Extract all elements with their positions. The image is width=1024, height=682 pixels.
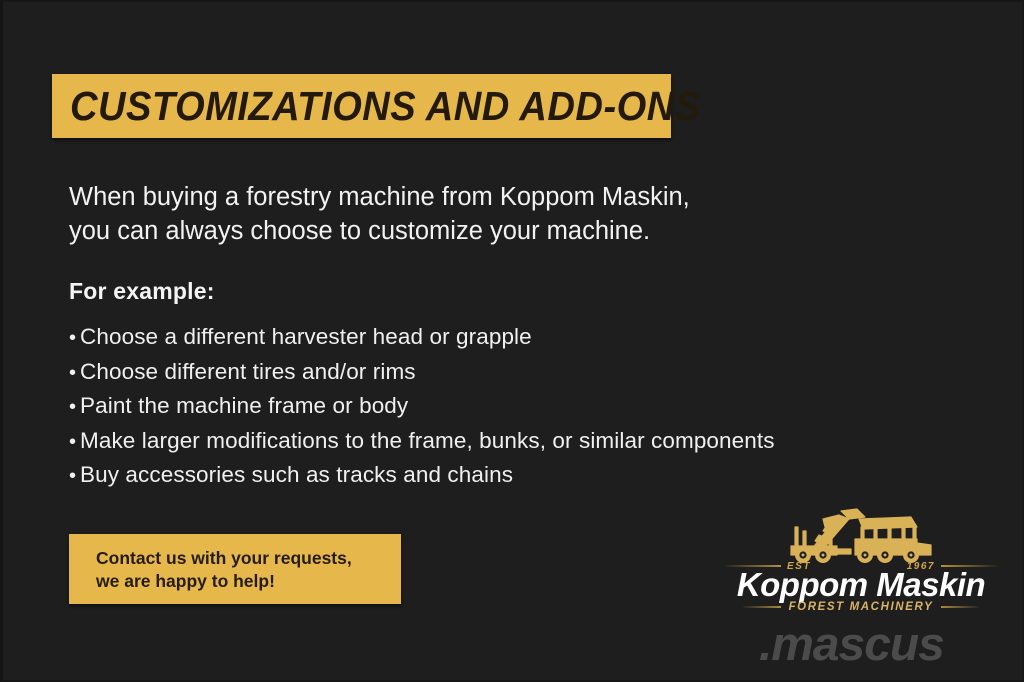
bullet-icon: • [69, 363, 80, 383]
intro-paragraph: When buying a forestry machine from Kopp… [69, 180, 789, 248]
list-item-label: Make larger modifications to the frame, … [80, 428, 775, 454]
logo-subtitle-row: FOREST MACHINERY [725, 601, 997, 613]
slide-canvas: CUSTOMIZATIONS AND ADD-ONS When buying a… [0, 0, 1024, 682]
bullet-icon: • [69, 397, 80, 417]
customization-list: • Choose a different harvester head or g… [69, 324, 929, 497]
mascus-watermark: .mascus [759, 616, 944, 671]
contact-cta-text: Contact us with your requests, we are ha… [96, 547, 352, 593]
bullet-icon: • [69, 328, 80, 348]
list-item: • Buy accessories such as tracks and cha… [69, 462, 929, 497]
page-title: CUSTOMIZATIONS AND ADD-ONS [70, 83, 701, 130]
list-item-label: Buy accessories such as tracks and chain… [80, 462, 513, 488]
logo-wordmark: Koppom Maskin [725, 567, 997, 603]
example-heading: For example: [69, 278, 215, 305]
contact-cta-line-1: Contact us with your requests, [96, 547, 352, 570]
logo-subtitle: FOREST MACHINERY [781, 601, 942, 613]
list-item: • Make larger modifications to the frame… [69, 428, 929, 463]
intro-line-1: When buying a forestry machine from Kopp… [69, 180, 789, 214]
koppom-maskin-logo: EST 1967 Koppom Maskin FOREST MACHINERY [725, 505, 997, 611]
intro-line-2: you can always choose to customize your … [69, 214, 789, 248]
list-item-label: Choose a different harvester head or gra… [80, 324, 532, 350]
bullet-icon: • [69, 466, 80, 486]
bullet-icon: • [69, 432, 80, 452]
forestry-forwarder-icon [779, 505, 949, 563]
list-item: • Choose different tires and/or rims [69, 359, 929, 394]
list-item: • Choose a different harvester head or g… [69, 324, 929, 359]
logo-subrule-left [743, 606, 781, 608]
list-item: • Paint the machine frame or body [69, 393, 929, 428]
logo-subrule-right [941, 606, 979, 608]
list-item-label: Choose different tires and/or rims [80, 359, 416, 385]
contact-cta-line-2: we are happy to help! [96, 570, 352, 593]
contact-cta-button[interactable]: Contact us with your requests, we are ha… [69, 534, 401, 604]
title-banner: CUSTOMIZATIONS AND ADD-ONS [52, 74, 671, 138]
list-item-label: Paint the machine frame or body [80, 393, 408, 419]
